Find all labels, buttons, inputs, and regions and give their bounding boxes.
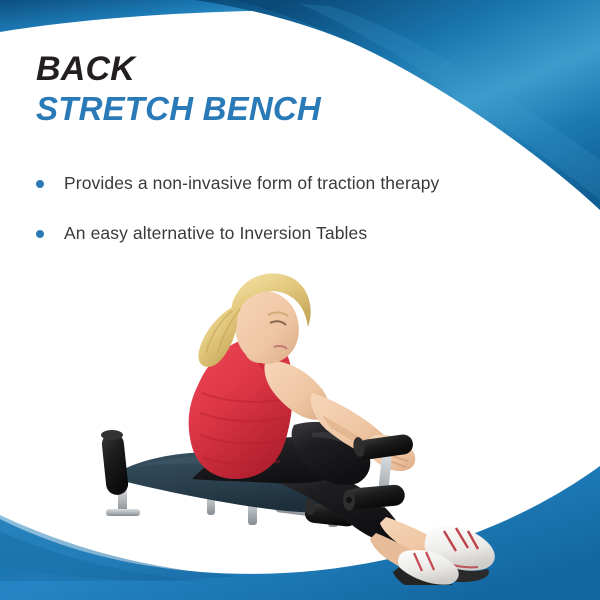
title-line-stretch-bench: STRETCH BENCH: [36, 92, 321, 125]
bullet-dot-icon: [36, 180, 44, 188]
page-title: BACK STRETCH BENCH: [36, 52, 321, 125]
title-line-back: BACK: [36, 52, 321, 86]
feature-list: Provides a non-invasive form of traction…: [36, 172, 556, 272]
list-item: Provides a non-invasive form of traction…: [36, 172, 556, 195]
bullet-dot-icon: [36, 230, 44, 238]
feature-text: An easy alternative to Inversion Tables: [64, 222, 367, 245]
left-foam-roller: [101, 430, 129, 496]
list-item: An easy alternative to Inversion Tables: [36, 222, 556, 245]
product-photo-illustration: [60, 265, 560, 585]
product-banner: BACK STRETCH BENCH Provides a non-invasi…: [0, 0, 600, 600]
feature-text: Provides a non-invasive form of traction…: [64, 172, 439, 195]
product-photo: [60, 265, 560, 585]
top-right-swoosh-highlight: [300, 4, 600, 200]
top-blue-arc: [0, 0, 600, 32]
